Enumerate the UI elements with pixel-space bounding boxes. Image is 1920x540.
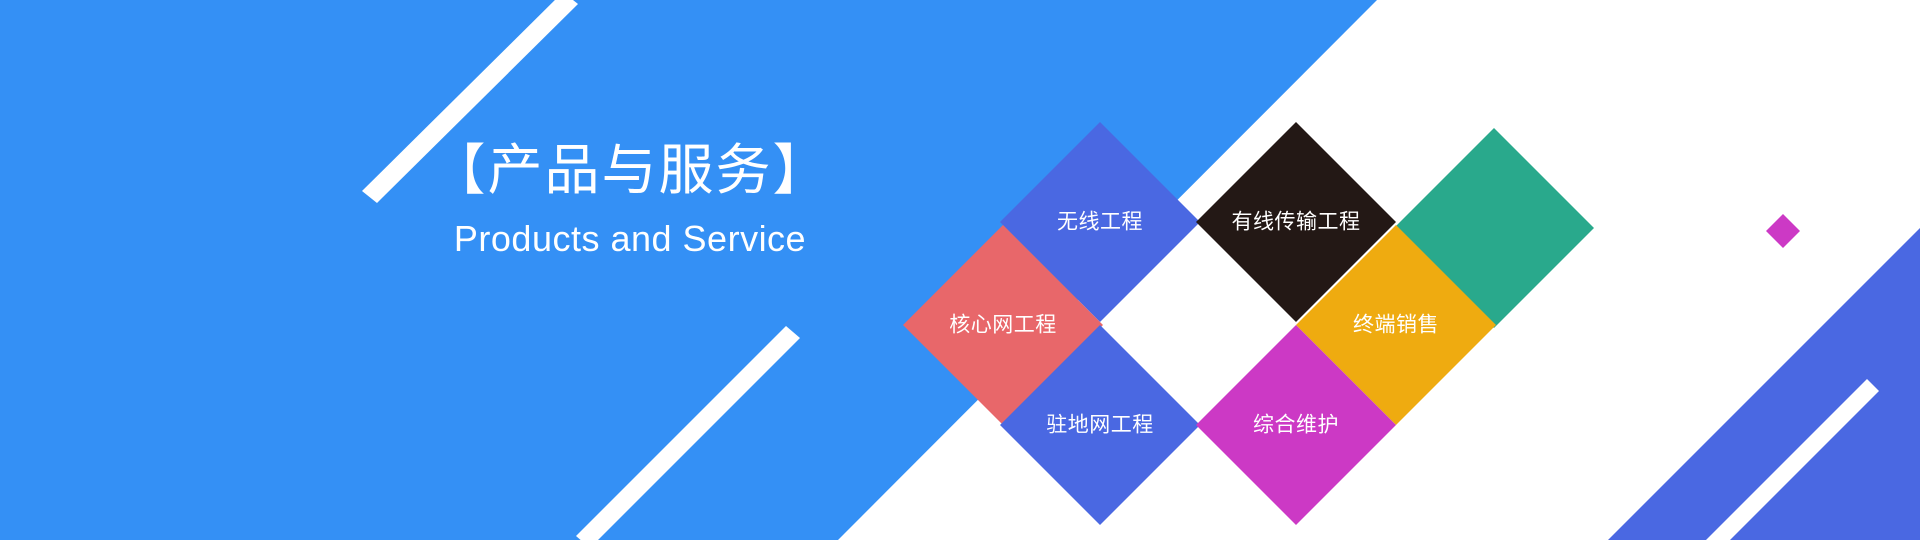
tile-label-wired-transmission-engineering[interactable]: 有线传输工程 — [1232, 212, 1361, 233]
products-and-service-banner: 【产品与服务】 Products and Service 无线工程 有线传输工程… — [0, 0, 1920, 540]
banner-background-graphic — [0, 0, 1920, 540]
tile-label-core-network-engineering[interactable]: 核心网工程 — [949, 315, 1057, 336]
tile-label-wireless-engineering[interactable]: 无线工程 — [1057, 212, 1143, 233]
tile-label-comprehensive-maintenance[interactable]: 综合维护 — [1253, 415, 1339, 436]
tile-label-terminal-sales[interactable]: 终端销售 — [1353, 315, 1439, 336]
tile-label-premises-network-engineering[interactable]: 驻地网工程 — [1046, 415, 1154, 436]
